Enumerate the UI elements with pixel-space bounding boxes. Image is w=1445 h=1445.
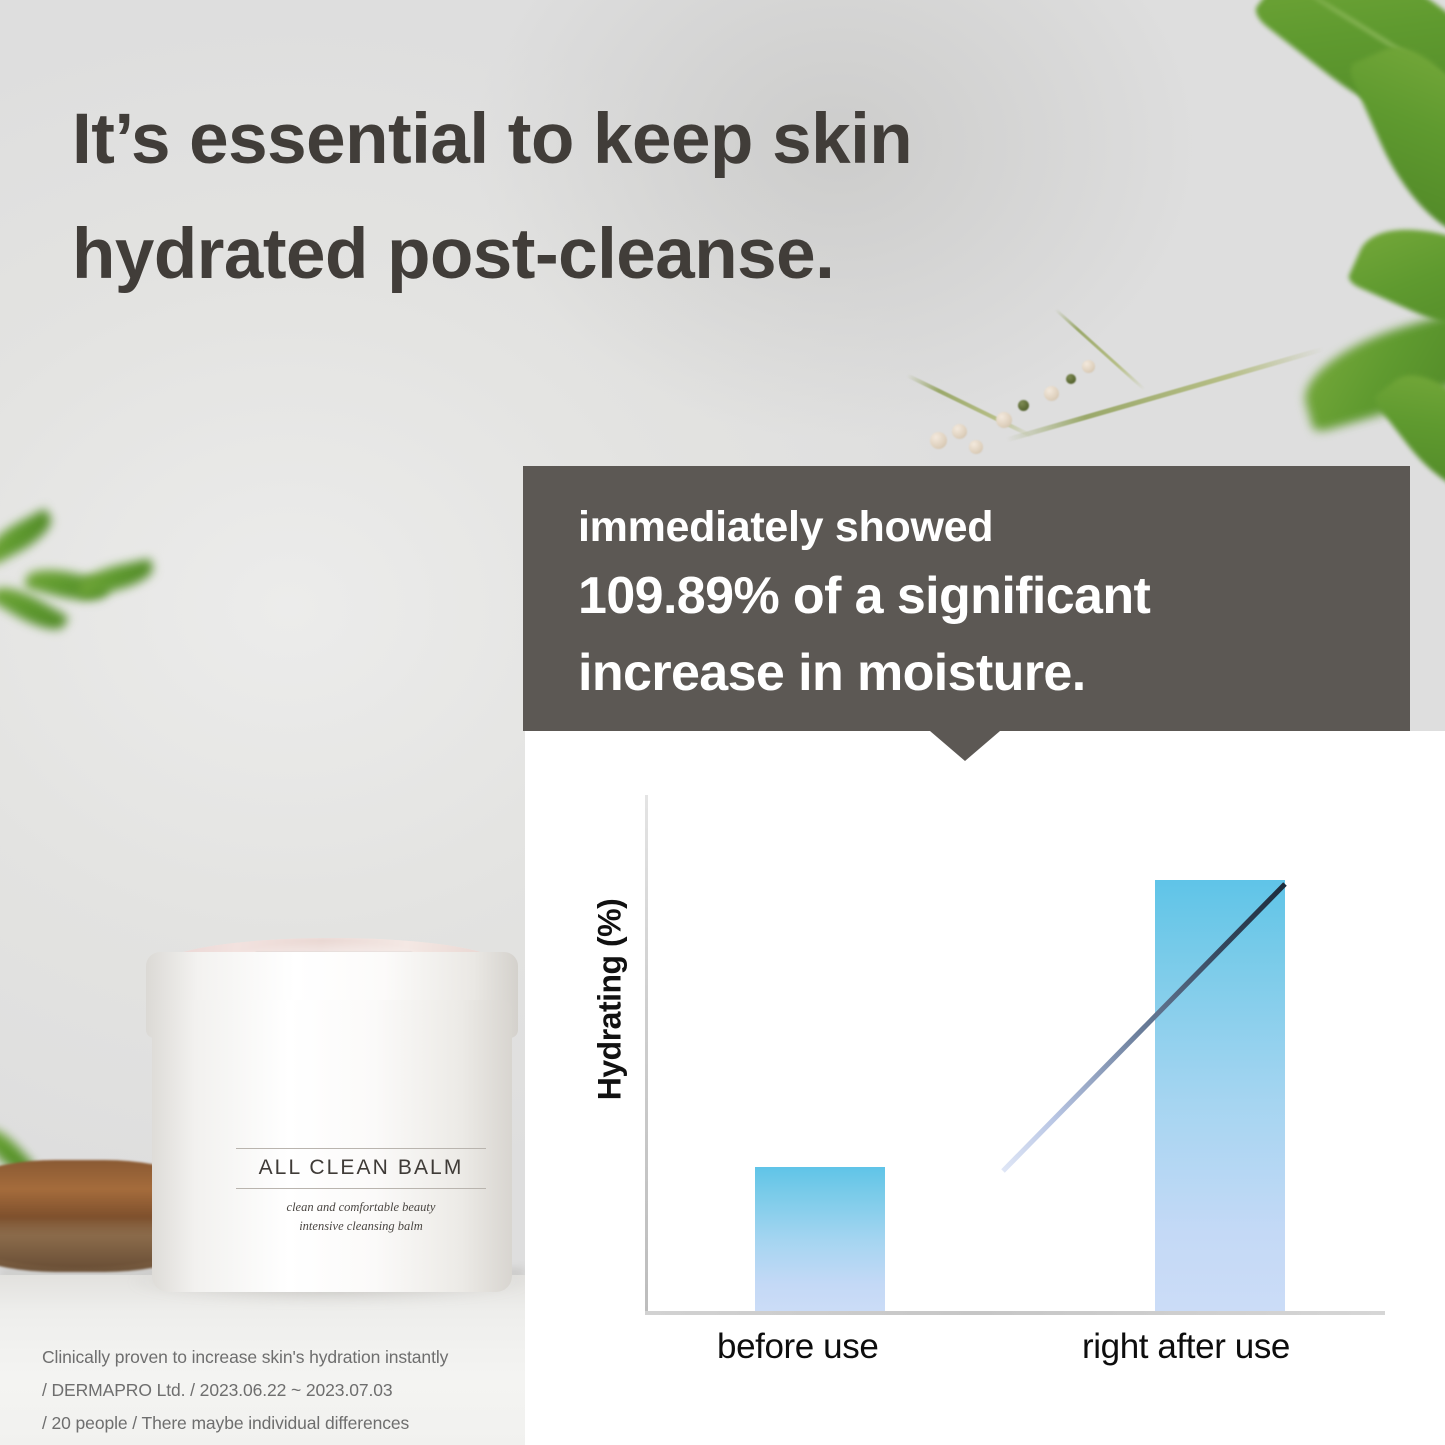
jar-label-subtitle: clean and comfortable beauty intensive c… <box>236 1189 486 1236</box>
callout-line-2: 109.89% of a significant <box>578 558 1410 635</box>
jar-label-title: ALL CLEAN BALM <box>236 1149 486 1188</box>
footnote-line-2: / DERMAPRO Ltd. / 2023.06.22 ~ 2023.07.0… <box>42 1374 448 1407</box>
chart-y-axis-label: Hydrating (%) <box>592 855 629 1145</box>
statistic-callout: immediately showed 109.89% of a signific… <box>523 466 1410 731</box>
jar-body <box>152 1000 512 1292</box>
chart-bar-right-after-use <box>1155 880 1285 1311</box>
berry-icon <box>1018 400 1029 411</box>
berry-icon <box>969 440 983 454</box>
callout-line-3: increase in moisture. <box>578 635 1410 712</box>
footnote: Clinically proven to increase skin's hyd… <box>42 1341 448 1440</box>
chart-y-axis-line <box>645 795 648 1313</box>
berry-icon <box>1082 360 1095 373</box>
advertisement-page: ALL CLEAN BALM ALL CLEAN BALM clean and … <box>0 0 1445 1445</box>
chart-x-axis-line <box>645 1311 1385 1315</box>
berry-icon <box>952 424 967 439</box>
callout-pointer <box>930 731 1000 761</box>
jar-label-subtitle-line-1: clean and comfortable beauty <box>236 1198 486 1217</box>
footnote-line-1: Clinically proven to increase skin's hyd… <box>42 1341 448 1374</box>
callout-line-1: immediately showed <box>578 496 1410 558</box>
jar-label-subtitle-line-2: intensive cleansing balm <box>236 1217 486 1236</box>
berry-icon <box>1044 386 1059 401</box>
chart-bar-before-use <box>755 1167 885 1311</box>
chart-category-label-before-use: before use <box>717 1327 878 1367</box>
footnote-line-3: / 20 people / There maybe individual dif… <box>42 1407 448 1440</box>
jar-label: ALL CLEAN BALM clean and comfortable bea… <box>236 1148 486 1236</box>
berry-icon <box>1066 374 1076 384</box>
headline-line-1: It’s essential to keep skin <box>72 82 1252 197</box>
berry-icon <box>996 412 1012 428</box>
berry-icon <box>930 432 947 449</box>
chart-panel: Hydrating (%) before use right after use <box>525 731 1445 1445</box>
chart-category-label-right-after-use: right after use <box>1082 1327 1290 1367</box>
page-headline: It’s essential to keep skin hydrated pos… <box>72 82 1252 312</box>
headline-line-2: hydrated post-cleanse. <box>72 197 1252 312</box>
